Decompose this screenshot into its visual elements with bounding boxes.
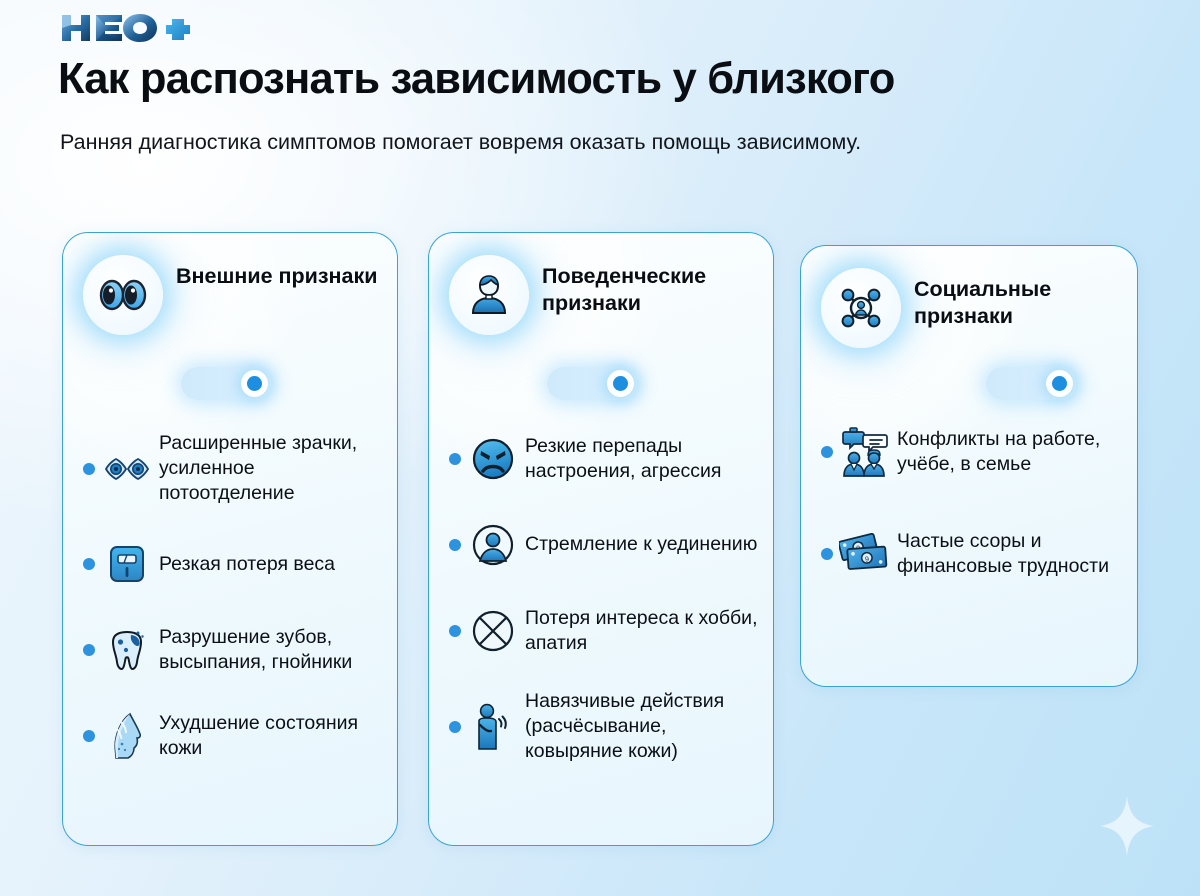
toggle-knob — [607, 370, 634, 397]
card-title: Социальные признаки — [914, 276, 1129, 330]
list-item: Конфликты на работе, учёбе, в семье — [801, 424, 1137, 480]
signs-list: Конфликты на работе, учёбе, в семье 9 — [801, 424, 1137, 628]
crossed-circle-icon — [467, 609, 519, 653]
list-item: Расширенные зрачки, усиленное потоотделе… — [63, 431, 397, 506]
bullet-dot — [449, 625, 461, 637]
list-item: Резкие перепады настроения, агрессия — [429, 431, 773, 487]
list-item-text: Стремление к уединению — [525, 532, 773, 557]
page-title: Как распознать зависимость у близкого — [58, 56, 1138, 102]
bullet-dot — [821, 446, 833, 458]
list-item-text: Резкие перепады настроения, агрессия — [525, 434, 773, 484]
network-icon — [821, 268, 901, 348]
card-title: Поведенческие признаки — [542, 263, 757, 317]
card-toggle-behavioral[interactable] — [547, 367, 637, 400]
list-item-text: Разрушение зубов, высыпания, гнойники — [159, 625, 397, 675]
list-item-text: Конфликты на работе, учёбе, в семье — [897, 427, 1137, 477]
card-title: Внешние признаки — [176, 263, 391, 290]
bullet-dot — [83, 463, 95, 475]
list-item-text: Ухудшение состояния кожи — [159, 711, 397, 761]
card-toggle-external[interactable] — [181, 367, 271, 400]
toggle-knob — [241, 370, 268, 397]
tooth-icon — [101, 628, 153, 672]
page-subtitle: Ранняя диагностика симптомов помогает во… — [60, 126, 960, 159]
card-header: Поведенческие признаки — [429, 233, 773, 361]
scratching-person-icon — [467, 703, 519, 751]
signs-list: Резкие перепады настроения, агрессия Стр… — [429, 431, 773, 794]
brand-logo — [60, 12, 195, 44]
person-icon — [449, 255, 529, 335]
bullet-dot — [83, 644, 95, 656]
people-conflict-icon — [839, 426, 891, 478]
money-icon: 9 9 — [839, 533, 891, 575]
bullet-dot — [821, 548, 833, 560]
list-item-text: Расширенные зрачки, усиленное потоотделе… — [159, 431, 397, 506]
bullet-dot — [83, 558, 95, 570]
list-item: Разрушение зубов, высыпания, гнойники — [63, 622, 397, 678]
angry-face-icon — [467, 437, 519, 481]
card-external-signs: Внешние признаки Расширенные зрачки, уси… — [62, 232, 398, 846]
card-toggle-social[interactable] — [986, 367, 1076, 400]
signs-list: Расширенные зрачки, усиленное потоотделе… — [63, 431, 397, 794]
list-item: Потеря интереса к хобби, апатия — [429, 603, 773, 659]
card-header: Внешние признаки — [63, 233, 397, 361]
list-item: Стремление к уединению — [429, 517, 773, 573]
list-item-text: Частые ссоры и финансовые трудности — [897, 529, 1137, 579]
list-item-text: Резкая потеря веса — [159, 552, 397, 577]
svg-text:9: 9 — [865, 554, 870, 563]
bullet-dot — [449, 453, 461, 465]
sparkle-icon — [1100, 796, 1154, 856]
eyes-icon — [83, 255, 163, 335]
dilated-pupils-icon — [101, 457, 153, 481]
card-behavioral-signs: Поведенческие признаки Р — [428, 232, 774, 846]
bullet-dot — [449, 721, 461, 733]
user-circle-icon — [467, 523, 519, 567]
card-social-signs: Социальные признаки — [800, 245, 1138, 687]
scales-icon — [101, 544, 153, 584]
list-item: Навязчивые действия (расчёсывание, ковыр… — [429, 689, 773, 764]
list-item: 9 9 Частые ссоры и финансовые трудности — [801, 526, 1137, 582]
bullet-dot — [83, 730, 95, 742]
toggle-knob — [1046, 370, 1073, 397]
list-item-text: Потеря интереса к хобби, апатия — [525, 606, 773, 656]
list-item: Резкая потеря веса — [63, 536, 397, 592]
list-item-text: Навязчивые действия (расчёсывание, ковыр… — [525, 689, 773, 764]
face-skin-icon — [101, 712, 153, 760]
card-header: Социальные признаки — [801, 246, 1137, 374]
list-item: Ухудшение состояния кожи — [63, 708, 397, 764]
bullet-dot — [449, 539, 461, 551]
